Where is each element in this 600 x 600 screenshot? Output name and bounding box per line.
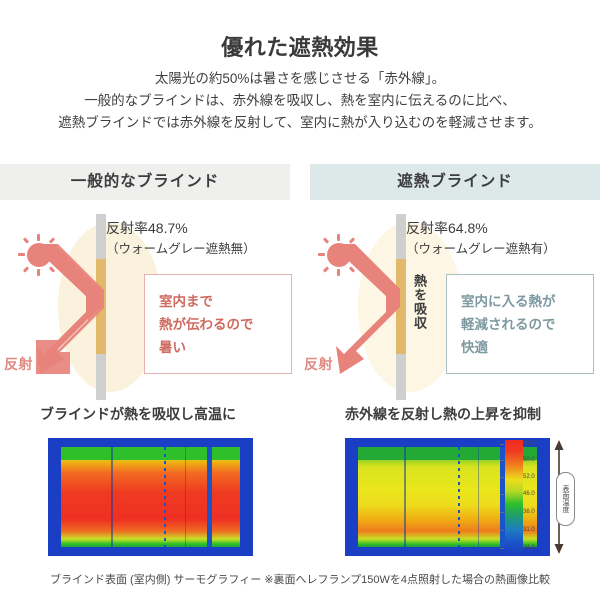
callout-line: 熱が伝わるので <box>159 313 291 336</box>
reflected-ray-arrow <box>26 242 116 382</box>
column-heading-label: 一般的なブラインド <box>0 164 290 200</box>
callout-line: 室内まで <box>159 290 291 313</box>
reflected-ray-arrow <box>326 242 416 382</box>
column-header-standard-blind: 一般的なブラインド <box>0 164 290 200</box>
thermal-caption-heatshield: 赤外線を反射し熱の上昇を抑制 <box>345 404 541 424</box>
scale-tick-label: 24.0 <box>523 545 535 551</box>
callout-line: 快適 <box>461 336 593 359</box>
scale-tick-label: 36.0 <box>523 509 535 515</box>
reflectance-value: 反射率48.7% <box>106 218 256 239</box>
thermogram-standard-blind <box>48 438 253 556</box>
scale-tick-label: 46.0 <box>523 491 535 497</box>
reflect-label: 反射 <box>304 354 333 374</box>
temperature-axis-label: 表面温度 <box>556 472 575 526</box>
scale-tick-label: 31.0 <box>523 527 535 533</box>
diagram-standard-blind: 反射 反射率48.7% （ウォームグレー遮熱無） 室内まで 熱が伝わるので 暑い <box>0 214 300 400</box>
footnote: ブラインド表面 (室内側) サーモグラフィー ※裏面へレフランプ150Wを4点照… <box>0 571 600 587</box>
thermal-caption-standard: ブラインドが熱を吸収し高温に <box>40 404 236 424</box>
infographic-page: 優れた遮熱効果 太陽光の約50%は暑さを感じさせる「赤外線」。 一般的なブライン… <box>0 0 600 600</box>
callout-line: 室内に入る熱が <box>461 290 593 313</box>
callout-standard-blind: 室内まで 熱が伝わるので 暑い <box>144 274 292 374</box>
callout-line: 暑い <box>159 336 291 359</box>
intro-line-2: 一般的なブラインドは、赤外線を吸収し、熱を室内に伝えるのに比べ、 <box>0 90 600 112</box>
scale-tick-label: 56.0 <box>523 441 535 447</box>
reflectance-note: （ウォームグレー遮熱無） <box>106 239 256 260</box>
intro-line-1: 太陽光の約50%は暑さを感じさせる「赤外線」。 <box>0 68 600 90</box>
page-title: 優れた遮熱効果 <box>0 30 600 62</box>
reflectance-text: 反射率64.8% （ウォームグレー遮熱有） <box>406 218 556 260</box>
reflect-label: 反射 <box>4 354 33 374</box>
reflectance-text: 反射率48.7% （ウォームグレー遮熱無） <box>106 218 256 260</box>
scale-tick-label: 50.0 <box>523 457 535 463</box>
scale-tick-label: 52.0 <box>523 474 535 480</box>
column-heading-label: 遮熱ブラインド <box>310 164 600 200</box>
diagram-heatshield-blind: 反射 熱を吸収 反射率64.8% （ウォームグレー遮熱有） 室内に入る熱が 軽減… <box>300 214 600 400</box>
temperature-color-scale <box>505 440 523 554</box>
callout-line: 軽減されるので <box>461 313 593 336</box>
intro-paragraph: 太陽光の約50%は暑さを感じさせる「赤外線」。 一般的なブラインドは、赤外線を吸… <box>0 68 600 134</box>
heat-absorb-vertical-label: 熱を吸収 <box>410 274 428 330</box>
reflectance-note: （ウォームグレー遮熱有） <box>406 239 556 260</box>
column-header-heatshield-blind: 遮熱ブラインド <box>310 164 600 200</box>
thermal-field-hot <box>61 447 240 547</box>
callout-heatshield-blind: 室内に入る熱が 軽減されるので 快適 <box>446 274 594 374</box>
reflectance-value: 反射率64.8% <box>406 218 556 239</box>
intro-line-3: 遮熱ブラインドでは赤外線を反射して、室内に熱が入り込むのを軽減させます。 <box>0 112 600 134</box>
